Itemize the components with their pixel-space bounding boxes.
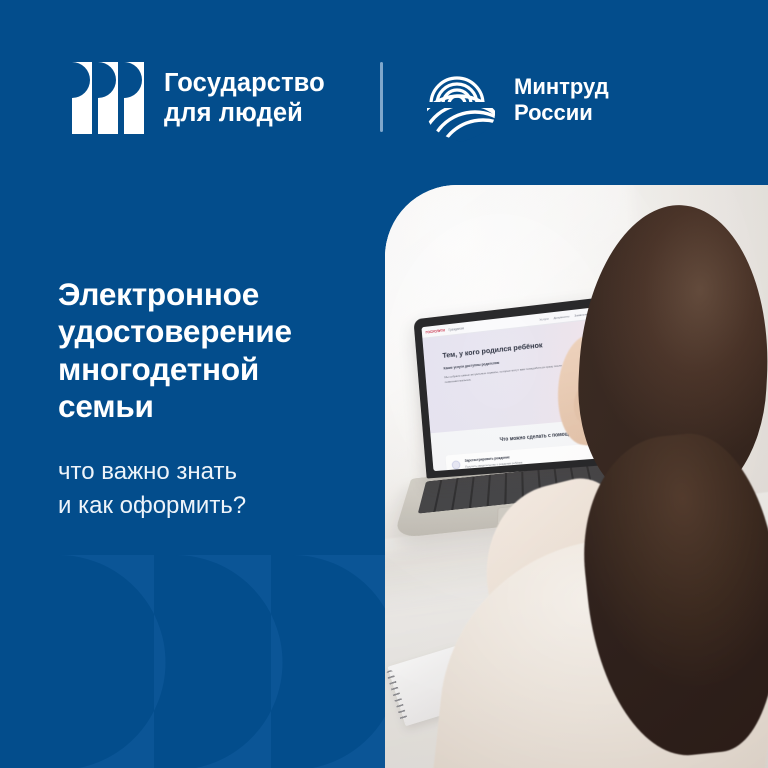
page-title: Электронное удостоверение многодетной се… (58, 276, 378, 426)
gosuslugi-logo[interactable]: ГОСУСЛУГИ (425, 328, 444, 334)
logo-mintrud-label: Минтруд России (514, 74, 609, 127)
logo-gosudarstvo-dlya-lyudey[interactable]: Государство для людей (72, 62, 325, 134)
poster-root: Государство для людей (0, 0, 768, 768)
gosudarstvo-dlya-lyudey-mark (72, 62, 144, 134)
page-subtitle: что важно знать и как оформить? (58, 455, 378, 523)
logo-gosudarstvo-label: Государство для людей (164, 68, 325, 128)
logo-divider (380, 62, 383, 132)
logo-mintrud[interactable]: Минтруд России (427, 58, 609, 142)
photo-panel: ГОСУСЛУГИ Гражданам Услуги Документы Зая… (385, 185, 768, 768)
gosuslugi-region-selector[interactable]: Гражданам (448, 326, 464, 332)
mintrud-shield-mark (427, 58, 495, 142)
header: Государство для людей (0, 0, 768, 190)
document-icon (451, 460, 460, 469)
person-at-laptop (528, 185, 768, 768)
background-watermark (58, 555, 388, 768)
